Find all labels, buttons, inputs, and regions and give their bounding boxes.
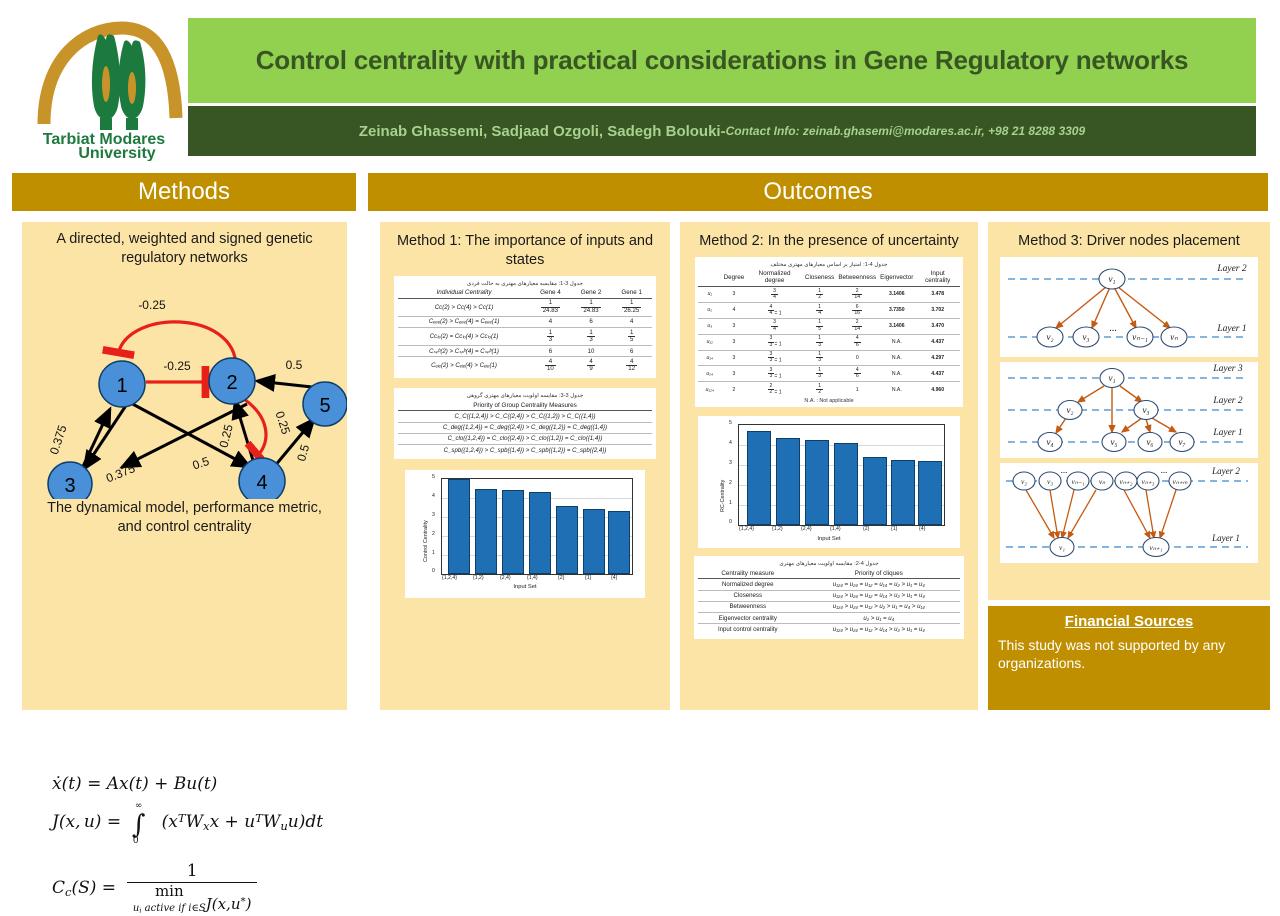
cell: 3 — [722, 350, 747, 366]
cell: 3 — [722, 318, 747, 334]
method3-diagram2: Layer 3 Layer 2 Layer 1 v₁ v₂ v — [1000, 362, 1258, 458]
rc-centrality-chart: 5 4 3 2 1 0 RC-Centrality {1,2,4} {1,2} … — [698, 416, 960, 548]
node-label: v₄ — [1046, 437, 1053, 447]
poster-header: Tarbiat Modares University Control centr… — [0, 0, 1280, 162]
row-label: Eigenvector centrality — [698, 612, 798, 623]
table-row: C_clo({1,2,4}) = C_clo({2,4}) > C_clo({1… — [398, 433, 652, 444]
model-caption: The dynamical model, performance metric,… — [22, 499, 347, 538]
cell: C_spb({1,2,4}) > C_spb({1,4}) > C_spb({1… — [398, 444, 652, 455]
method2-title: Method 2: In the presence of uncertainty — [680, 222, 978, 257]
cell: C_C({1,2,4}) > C_C({2,4}) > C_C({1,2}) >… — [398, 411, 652, 422]
x-tick: {1,4} — [830, 526, 841, 532]
row-label: Cₑₑₑ(2) > Cₑₑₑ(4) = Cₑₑₑ(1) — [398, 316, 530, 327]
cell: 124.83 — [571, 298, 612, 316]
table-header-row: Degree Normalized degree Closeness Betwe… — [698, 269, 960, 287]
financial-sources-panel: Financial Sources This study was not sup… — [988, 606, 1270, 710]
cell: N.A. — [878, 382, 915, 397]
table-row: Cₑₑₑ(2) > Cₑₑₑ(4) = Cₑₑₑ(1) 4 6 4 — [398, 316, 652, 327]
diagram2-graphic: Layer 3 Layer 2 Layer 1 v₁ v₂ v — [1000, 362, 1258, 458]
method2-table2-card: جدول 4-2: مقایسه اولویت معیارهای مهتری C… — [694, 556, 964, 639]
x-tick: {1,2} — [772, 526, 783, 532]
col-eigenvector: Eigenvector — [878, 269, 915, 287]
cell: C_deg({1,2,4}) = C_deg({2,4}) > C_deg({1… — [398, 422, 652, 433]
bar-2 — [502, 490, 524, 574]
outcomes-label: Outcomes — [763, 178, 872, 206]
edge-label-f: 0.25 — [273, 410, 294, 437]
table-row: Cᴄₗₒ(2) = Cᴄₗₒ(4) > Cᴄₗₒ(1) 13 13 15 — [398, 328, 652, 346]
node-label: vₙ — [1099, 477, 1106, 486]
row-label: Cᴄₗₒ(2) = Cᴄₗₒ(4) > Cᴄₗₒ(1) — [398, 328, 530, 346]
method2-table1-caption: جدول 4-1: امتیاز بر اساس معیارهای مهتری … — [698, 260, 960, 269]
author-banner: Zeinab Ghassemi, Sadjaad Ozgoli, Sadegh … — [188, 106, 1256, 156]
node-label: v₇ — [1178, 437, 1185, 447]
financial-title: Financial Sources — [988, 606, 1270, 636]
table-row: Normalized degree u₁₂₄ = u₂₄ = u₁₂ = u₁₄… — [698, 579, 960, 590]
cell: 15 — [611, 328, 652, 346]
bar-1 — [776, 438, 800, 525]
method3-title: Method 3: Driver nodes placement — [988, 222, 1270, 257]
cell: 4.297 — [915, 350, 960, 366]
table-row: Eigenvector centrality u₂ > u₁ = u₄ — [698, 612, 960, 623]
methods-label: Methods — [138, 178, 230, 206]
method1-table2-card: جدول 3-3: مقایسه اولویت معیارهای مهتری گ… — [394, 388, 656, 459]
cell: 22= 1 — [746, 382, 803, 397]
x-tick: {2,4} — [801, 526, 812, 532]
row-label: Cᴄ(2) > Cᴄ(4) > Cᴄ(1) — [398, 298, 530, 316]
bar-0 — [747, 431, 771, 525]
cell: 0 — [836, 350, 878, 366]
formula-control-centrality: Cc(S) = 1 min ui active if i∈S J(x,u*) — [52, 862, 257, 916]
edge-label-e: 0.25 — [217, 423, 236, 449]
cell: 13 — [803, 334, 836, 350]
y-tick: 0 — [432, 568, 435, 574]
x-tick: {1,2} — [473, 575, 484, 581]
cell: 3.702 — [915, 302, 960, 318]
section-header-outcomes: Outcomes — [368, 173, 1268, 211]
cell: 13 — [803, 350, 836, 366]
node-label: vₙ₋₁ — [1072, 477, 1085, 486]
cell: 3.1406 — [878, 318, 915, 334]
row-name: u₁₂ — [698, 334, 722, 350]
svg-text:3: 3 — [64, 475, 75, 497]
x-tick: {1} — [891, 526, 897, 532]
cell: 12 — [803, 382, 836, 397]
row-label: Closeness — [698, 590, 798, 601]
row-label: Cₑᵢₑ(2) > Cₑᵢₑ(4) > Cₑᵢₑ(1) — [398, 357, 530, 374]
col-gene2: Gene 2 — [571, 288, 612, 299]
ellipsis-label: ... — [1061, 465, 1068, 475]
col-priority-group: Priority of Group Centrality Measures — [398, 400, 652, 411]
method1-table2: Priority of Group Centrality Measures C_… — [398, 400, 652, 455]
cell: C_clo({1,2,4}) = C_clo({2,4}) > C_clo({1… — [398, 433, 652, 444]
table-row: C_spb({1,2,4}) > C_spb({1,4}) > C_spb({1… — [398, 444, 652, 455]
row-name: u₂ — [698, 302, 722, 318]
graph-caption: A directed, weighted and signed genetic … — [22, 222, 347, 269]
node-label: vₙ₋₁ — [1132, 332, 1147, 342]
university-logo: Tarbiat Modares University — [22, 6, 187, 161]
row-name: u₂₄ — [698, 366, 722, 382]
cell: 4 — [611, 316, 652, 327]
ellipsis-label: ... — [1161, 465, 1168, 475]
table-row: Cₛₚᵇ(2) > Cₛₚᵇ(4) = Cₛₚᵇ(1) 6 10 6 — [398, 346, 652, 357]
row-label: Cₛₚᵇ(2) > Cₛₚᵇ(4) = Cₛₚᵇ(1) — [398, 346, 530, 357]
method1-table1-caption: جدول 3-1: مقایسه معیارهای مهتری به حالت … — [398, 279, 652, 288]
table-header-row: Priority of Group Centrality Measures — [398, 400, 652, 411]
cell: 4 — [722, 302, 747, 318]
x-axis-label: Input Set — [698, 536, 960, 542]
logo-graphic: Tarbiat Modares University — [22, 6, 187, 161]
x-tick: {1,2,4} — [739, 526, 754, 532]
x-tick: {1,2,4} — [442, 575, 457, 581]
node-label: vₙ₊₁ — [1150, 543, 1163, 552]
col-gene4: Gene 4 — [530, 288, 571, 299]
cell: 3 — [722, 366, 747, 382]
cell: 33= 1 — [746, 366, 803, 382]
cell: 214 — [836, 287, 878, 303]
x-tick: {4} — [919, 526, 925, 532]
table-row: Betweenness u₁₂₄ > u₂₄ = u₁₂ > u₂ > u₁ =… — [698, 601, 960, 612]
y-tick: 5 — [432, 474, 435, 480]
regulatory-network-graph: 1 2 3 4 5 -0.25 -0.25 0.375 0.375 0.25 0… — [22, 269, 347, 499]
col-individual-centrality: Individual Centrality — [398, 288, 530, 299]
cell: 4.960 — [915, 382, 960, 397]
node-label: vₙ — [1170, 332, 1178, 342]
chart-plot-area — [441, 478, 633, 575]
cell: 14 — [803, 302, 836, 318]
layer1-label: Layer 1 — [1216, 324, 1246, 334]
method3-diagram1: Layer 2 Layer 1 v₁ v₂ v₃ vₙ₋₁ vₙ ... — [1000, 257, 1258, 357]
method2-table2: Centrality measure Priority of cliques N… — [698, 568, 960, 634]
y-tick: 2 — [729, 480, 732, 486]
row-label: Normalized degree — [698, 579, 798, 590]
cell: 2 — [722, 382, 747, 397]
cell: 124.83 — [530, 298, 571, 316]
x-tick: {4} — [611, 575, 617, 581]
method3-diagram3: Layer 2 Layer 1 — [1000, 463, 1258, 563]
cell: 13 — [571, 328, 612, 346]
method2-table1: Degree Normalized degree Closeness Betwe… — [698, 269, 960, 397]
bar-6 — [608, 511, 630, 574]
cell: 34 — [746, 318, 803, 334]
layer2-label: Layer 2 — [1211, 466, 1240, 476]
method2-table1-card: جدول 4-1: امتیاز بر اساس معیارهای مهتری … — [695, 257, 963, 407]
y-tick: 1 — [432, 550, 435, 556]
cell: 6 — [530, 346, 571, 357]
author-contact: Contact Info: zeinab.ghasemi@modares.ac.… — [726, 124, 1086, 138]
x-tick: {1,4} — [527, 575, 538, 581]
bar-5 — [583, 509, 605, 574]
col-rowname — [698, 269, 722, 287]
cell: u₁₂₄ = u₂₄ = u₁₂ = u₁₄ = u₂ > u₁ = u₄ — [798, 579, 960, 590]
table-row: C_deg({1,2,4}) = C_deg({2,4}) > C_deg({1… — [398, 422, 652, 433]
method1-title: Method 1: The importance of inputs and s… — [380, 222, 670, 276]
table-row: u₁₂ 3 33= 1 13 46 N.A. 4.437 — [698, 334, 960, 350]
row-name: u₁₂₄ — [698, 382, 722, 397]
edge-label-a: -0.25 — [138, 298, 166, 312]
x-tick: {2} — [558, 575, 564, 581]
cell: 3 — [722, 287, 747, 303]
cell: N.A. — [878, 334, 915, 350]
cell: 10 — [571, 346, 612, 357]
author-names: Zeinab Ghassemi, Sadjaad Ozgoli, Sadegh … — [359, 123, 726, 140]
cell: 15 — [803, 318, 836, 334]
svg-text:2: 2 — [226, 372, 237, 394]
node-label: vₙ₊₂ — [1120, 477, 1133, 486]
cell: 13 — [803, 366, 836, 382]
bar-4 — [863, 457, 887, 525]
node-label: v₆ — [1146, 437, 1153, 447]
method2-table2-caption: جدول 4-2: مقایسه اولویت معیارهای مهتری — [698, 559, 960, 568]
y-tick: 3 — [729, 460, 732, 466]
node-label: vₙ₊ₘ — [1173, 477, 1188, 486]
edge-label-g: 0.5 — [191, 454, 212, 473]
col-priority-cliques: Priority of cliques — [798, 568, 960, 579]
table-row: Cᴄ(2) > Cᴄ(4) > Cᴄ(1) 124.83 124.83 126.… — [398, 298, 652, 316]
cell: 44= 1 — [746, 302, 803, 318]
edge-label-i: 0.5 — [294, 443, 312, 463]
cell: 4.437 — [915, 366, 960, 382]
svg-text:5: 5 — [319, 395, 330, 417]
cell: 3.470 — [915, 318, 960, 334]
layer1-label: Layer 1 — [1211, 533, 1240, 543]
cell: 214 — [836, 318, 878, 334]
formula-state-equation: ẋ(t) = Ax(t) + Bu(t) — [52, 774, 217, 794]
cell: 1 — [836, 382, 878, 397]
bar-5 — [891, 460, 915, 526]
col-centrality-measure: Centrality measure — [698, 568, 798, 579]
table-row: Closeness u₁₂₄ > u₂₄ = u₁₂ = u₁₄ > u₂ > … — [698, 590, 960, 601]
table-header-row: Centrality measure Priority of cliques — [698, 568, 960, 579]
cell: 46 — [836, 366, 878, 382]
method1-table2-caption: جدول 3-3: مقایسه اولویت معیارهای مهتری گ… — [398, 391, 652, 400]
bar-3 — [529, 492, 551, 574]
edge-label-b: -0.25 — [163, 359, 191, 373]
cell: 3.478 — [915, 287, 960, 303]
node-label: v₁ — [1108, 373, 1115, 383]
cell: 4.437 — [915, 334, 960, 350]
methods-panel: A directed, weighted and signed genetic … — [22, 222, 347, 710]
y-axis-label: RC-Centrality — [720, 480, 726, 512]
y-tick: 2 — [432, 531, 435, 537]
cell: 13 — [530, 328, 571, 346]
y-tick: 4 — [729, 440, 732, 446]
y-tick: 1 — [729, 500, 732, 506]
node-label: v₃ — [1047, 477, 1053, 486]
x-tick: {1} — [585, 575, 591, 581]
svg-text:1: 1 — [116, 375, 127, 397]
cell: 3 — [722, 334, 747, 350]
method1-panel: Method 1: The importance of inputs and s… — [380, 222, 670, 710]
table-row: u₂₄ 3 33= 1 13 46 N.A. 4.437 — [698, 366, 960, 382]
col-input-centrality: Input centrality — [915, 269, 960, 287]
formula-cost-function: J(x, u) = ∫∞0 (xTWxx + uTWuu)dt — [52, 810, 323, 840]
layer2-label: Layer 2 — [1216, 264, 1247, 274]
diagram1-graphic: Layer 2 Layer 1 v₁ v₂ v₃ vₙ₋₁ vₙ ... — [1000, 257, 1258, 357]
row-label: Input control centrality — [698, 624, 798, 635]
node-label: v₂ — [1021, 477, 1027, 486]
node-label: v₁ — [1108, 274, 1115, 284]
node-label: v₂ — [1066, 405, 1073, 415]
y-tick: 0 — [729, 519, 732, 525]
cell: 46 — [836, 334, 878, 350]
cell: u₁₂₄ > u₂₄ = u₁₂ > u₂ > u₁ = u₄ > u₁₄ — [798, 601, 960, 612]
col-gene1: Gene 1 — [611, 288, 652, 299]
row-name: u₃ — [698, 318, 722, 334]
table-row: Input control centrality u₁₂₄ > u₂₄ = u₁… — [698, 624, 960, 635]
y-tick: 4 — [432, 493, 435, 499]
cell: 616 — [836, 302, 878, 318]
row-label: Betweenness — [698, 601, 798, 612]
layer1-label: Layer 1 — [1212, 428, 1242, 438]
cell: 6 — [571, 316, 612, 327]
node-label: v₁ — [1059, 543, 1065, 552]
table-row: u₂ 4 44= 1 14 616 3.7350 3.702 — [698, 302, 960, 318]
cell: 34 — [746, 287, 803, 303]
node-label: vₙ₊₃ — [1142, 477, 1155, 486]
y-axis-label: Control Centrality — [423, 520, 429, 562]
edge-label-c: 0.375 — [47, 423, 70, 456]
cell: 412 — [611, 357, 652, 374]
page-title: Control centrality with practical consid… — [256, 46, 1189, 75]
row-name: u₁ — [698, 287, 722, 303]
cell: u₂ > u₁ = u₄ — [798, 612, 960, 623]
control-centrality-chart: 5 4 3 2 1 0 Control Centrality {1,2,4} {… — [405, 470, 645, 598]
method1-table1: Individual Centrality Gene 4 Gene 2 Gene… — [398, 288, 652, 374]
table-row: Cₑᵢₑ(2) > Cₑᵢₑ(4) > Cₑᵢₑ(1) 410 49 412 — [398, 357, 652, 374]
cell: 3.7350 — [878, 302, 915, 318]
section-header-methods: Methods — [12, 173, 356, 211]
table-row: u₁₂₄ 2 22= 1 12 1 N.A. 4.960 — [698, 382, 960, 397]
method3-panel: Method 3: Driver nodes placement Layer 2… — [988, 222, 1270, 600]
table-row: u₃ 3 34 15 214 3.1406 3.470 — [698, 318, 960, 334]
node-label: v₅ — [1110, 437, 1117, 447]
bar-0 — [448, 479, 470, 574]
layer3-label: Layer 3 — [1212, 364, 1243, 374]
cell: 6 — [611, 346, 652, 357]
edge-label-d: 0.375 — [104, 461, 137, 485]
cell: N.A. — [878, 366, 915, 382]
x-tick: {2,4} — [500, 575, 511, 581]
col-normalized-degree: Normalized degree — [746, 269, 803, 287]
method2-panel: Method 2: In the presence of uncertainty… — [680, 222, 978, 710]
cell: 126.25 — [611, 298, 652, 316]
method2-table1-footnote: N.A. : Not applicable — [698, 397, 960, 404]
x-axis-label: Input Set — [405, 584, 645, 590]
edge-label-h: 0.5 — [286, 358, 303, 372]
cell: 12 — [803, 287, 836, 303]
bar-2 — [805, 440, 829, 526]
cell: u₁₂₄ > u₂₄ = u₁₂ = u₁₄ > u₂ > u₁ = u₄ — [798, 590, 960, 601]
financial-body: This study was not supported by any orga… — [988, 636, 1270, 672]
cell: 4 — [530, 316, 571, 327]
node-label: v₂ — [1046, 332, 1053, 342]
y-tick: 5 — [729, 420, 732, 426]
node-label: v₃ — [1082, 332, 1089, 342]
bar-3 — [834, 443, 858, 525]
col-degree: Degree — [722, 269, 747, 287]
col-betweenness: Betweenness — [836, 269, 878, 287]
chart-plot-area — [738, 424, 945, 526]
bar-1 — [475, 489, 497, 575]
bar-6 — [918, 461, 942, 525]
node-label: v₃ — [1142, 405, 1149, 415]
bar-4 — [556, 506, 578, 575]
layer2-label: Layer 2 — [1212, 396, 1243, 406]
diagram3-graphic: Layer 2 Layer 1 — [1000, 463, 1258, 563]
row-name: u₁₄ — [698, 350, 722, 366]
cell: u₁₂₄ > u₂₄ = u₁₂ > u₁₄ > u₂ > u₁ = u₄ — [798, 624, 960, 635]
cell: 3.1406 — [878, 287, 915, 303]
cell: N.A. — [878, 350, 915, 366]
cell: 33= 1 — [746, 334, 803, 350]
table-row: u₁₄ 3 33= 1 13 0 N.A. 4.297 — [698, 350, 960, 366]
table-header-row: Individual Centrality Gene 4 Gene 2 Gene… — [398, 288, 652, 299]
table-row: C_C({1,2,4}) > C_C({2,4}) > C_C({1,2}) >… — [398, 411, 652, 422]
logo-line2-text: University — [78, 145, 155, 161]
col-closeness: Closeness — [803, 269, 836, 287]
cell: 49 — [571, 357, 612, 374]
poster-title-banner: Control centrality with practical consid… — [188, 18, 1256, 103]
method1-table1-card: جدول 3-1: مقایسه معیارهای مهتری به حالت … — [394, 276, 656, 378]
svg-text:4: 4 — [256, 472, 267, 494]
table-row: u₁ 3 34 12 214 3.1406 3.478 — [698, 287, 960, 303]
y-tick: 3 — [432, 512, 435, 518]
x-tick: {2} — [863, 526, 869, 532]
ellipsis-label: ... — [1109, 323, 1117, 334]
cell: 33= 1 — [746, 350, 803, 366]
cell: 410 — [530, 357, 571, 374]
